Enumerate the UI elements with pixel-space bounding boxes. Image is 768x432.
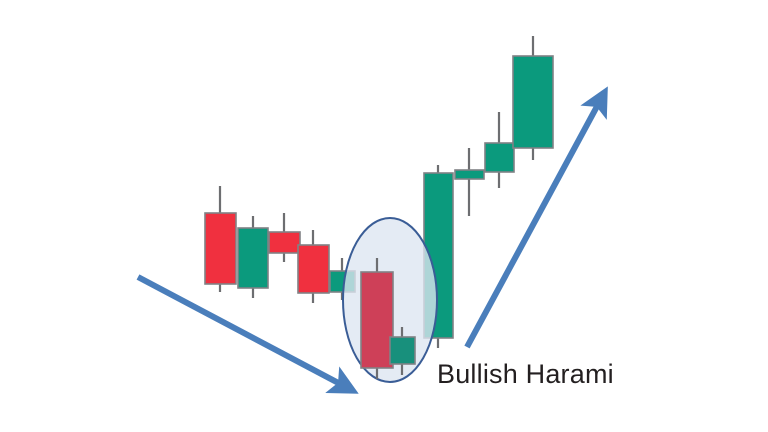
- candle-10-bullish: [485, 112, 514, 188]
- candle-4-bearish: [298, 230, 329, 303]
- candle-3-bearish: [269, 213, 300, 262]
- pattern-label: Bullish Harami: [437, 359, 614, 390]
- candlestick-chart-figure: Bullish Harami: [0, 0, 768, 432]
- candle-6-harami-mother-bearish: [361, 258, 393, 379]
- candle-2-bullish: [238, 216, 268, 298]
- candle-1-bearish: [205, 186, 236, 292]
- chart-canvas: [0, 0, 768, 432]
- candle-9-bullish-doji: [455, 148, 484, 216]
- candle-11-bullish-tall: [513, 36, 553, 160]
